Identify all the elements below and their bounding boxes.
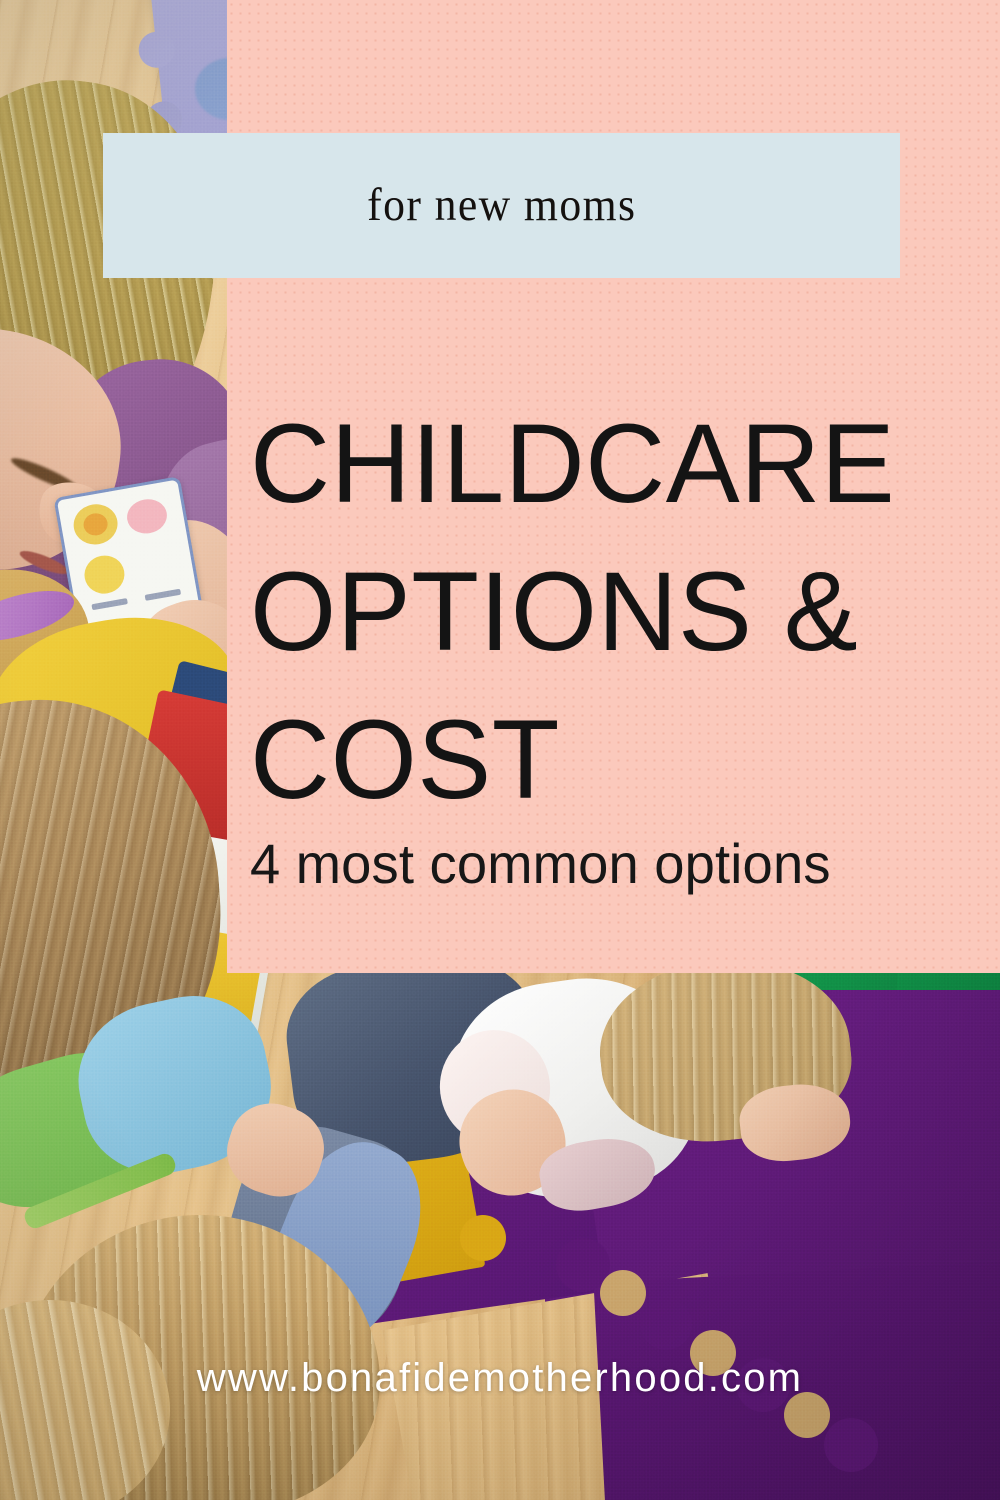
lion-illustration-icon: [70, 501, 120, 548]
page-subtitle: 4 most common options: [250, 836, 831, 892]
pig-illustration-icon: [124, 496, 169, 536]
headline-line-1: CHILDCARE: [250, 390, 943, 538]
puzzle-knob: [640, 1298, 692, 1350]
card-label-right: [145, 589, 181, 601]
foam-mat-yellow-knob: [460, 1215, 506, 1261]
puzzle-knob: [824, 1418, 878, 1472]
chick-illustration-icon: [81, 552, 127, 596]
pinterest-pin-graphic: for new moms CHILDCARE OPTIONS & COST 4 …: [0, 0, 1000, 1500]
puzzle-notch: [600, 1270, 646, 1316]
website-url: www.bonafidemotherhood.com: [0, 1356, 1000, 1401]
page-title: CHILDCARE OPTIONS & COST: [250, 390, 943, 833]
eyebrow-band: for new moms: [103, 133, 900, 278]
headline-line-2: OPTIONS &: [250, 538, 943, 686]
eyebrow-label: for new moms: [367, 182, 636, 229]
headline-line-3: COST: [250, 686, 943, 834]
card-label-left: [91, 598, 127, 610]
